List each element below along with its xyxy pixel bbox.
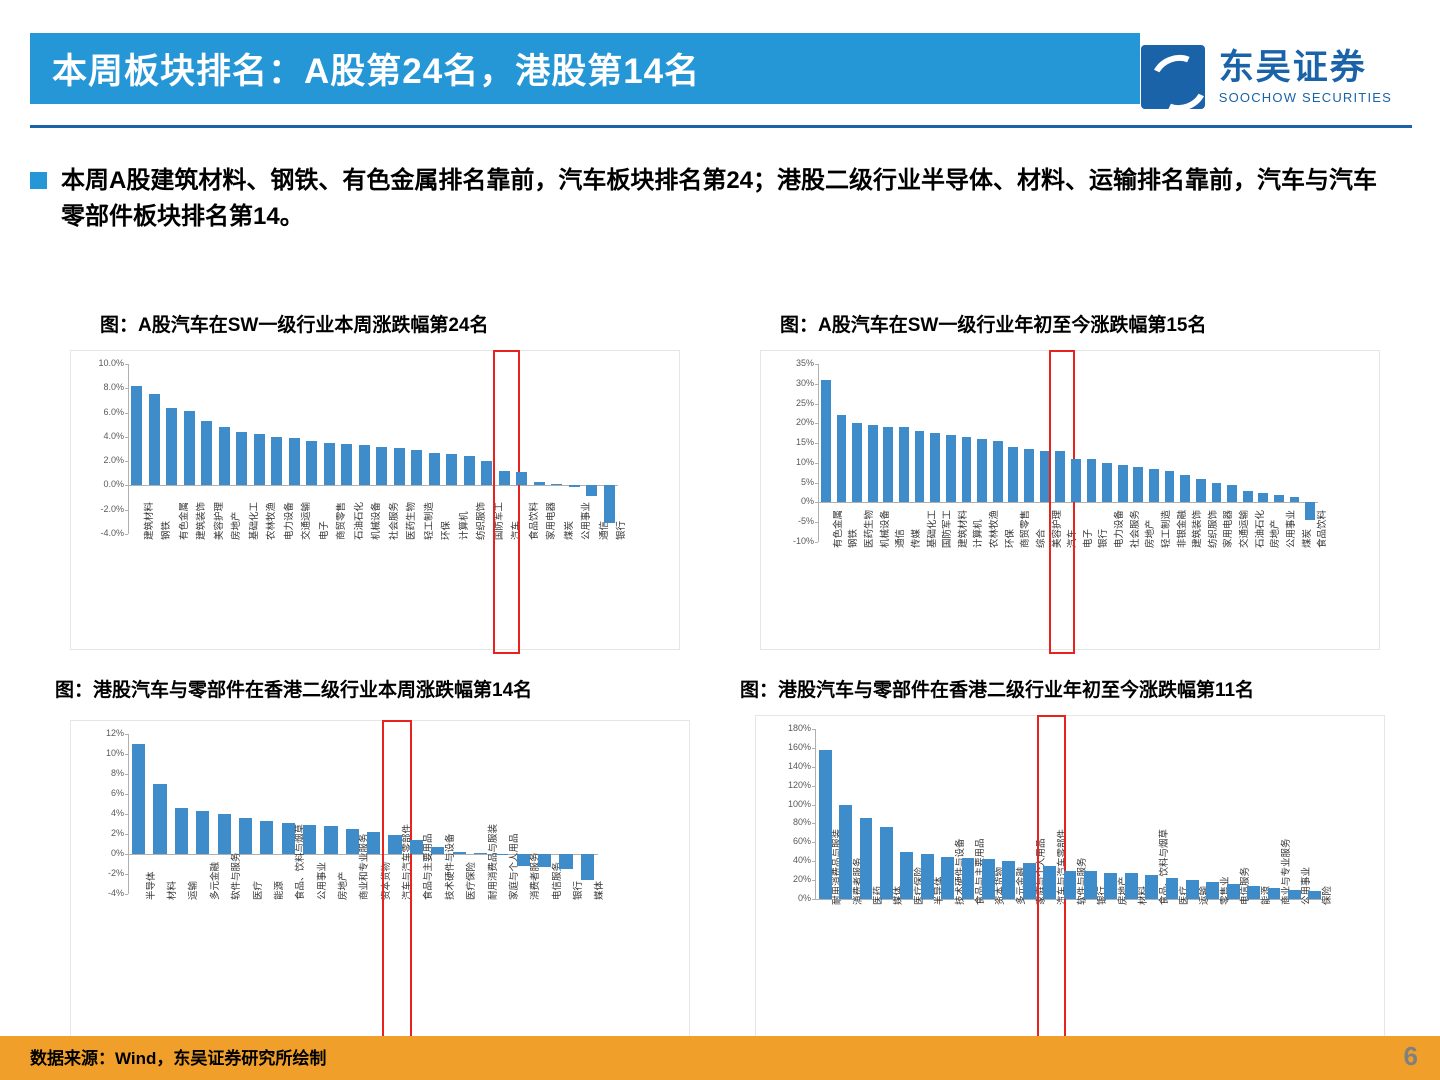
y-axis-tick-label: -10%	[772, 536, 814, 546]
bar	[837, 415, 847, 502]
bar	[303, 825, 316, 854]
y-axis-tick-label: 25%	[772, 398, 814, 408]
x-axis-category-label: 商贸零售	[1017, 510, 1031, 548]
bar	[306, 441, 317, 486]
x-axis-category-label: 电子	[1080, 529, 1094, 548]
x-axis-category-label: 机械设备	[368, 502, 382, 540]
bar	[289, 438, 300, 485]
bar	[341, 444, 352, 485]
bar	[1008, 447, 1018, 502]
x-axis-category-label: 运输	[185, 881, 199, 900]
x-axis-category-label: 机械设备	[877, 510, 891, 548]
bar	[1212, 483, 1222, 503]
x-axis-category-label: 建筑材料	[955, 510, 969, 548]
x-axis-category-label: 商贸零售	[333, 502, 347, 540]
x-axis-category-label: 房地产	[335, 871, 349, 900]
y-axis-tick-label: 0%	[769, 893, 811, 903]
x-axis-category-label: 材料	[164, 881, 178, 900]
bar	[1024, 449, 1034, 502]
y-axis-tick-label: 15%	[772, 437, 814, 447]
bar	[534, 482, 545, 486]
x-axis-category-label: 环保	[438, 521, 452, 540]
bar	[1102, 463, 1112, 503]
summary-bullet: 本周A股建筑材料、钢铁、有色金属排名靠前，汽车板块排名第24；港股二级行业半导体…	[30, 163, 1412, 235]
bar	[453, 852, 466, 854]
y-axis-tick-label: 12%	[82, 728, 124, 738]
y-axis-tick-label: 2%	[82, 828, 124, 838]
chart-hk-ytd: 180%160%140%120%100%80%60%40%20%0%耐用消费品与…	[755, 715, 1385, 1040]
y-axis-tick-label: 180%	[769, 723, 811, 733]
bar	[175, 808, 188, 854]
y-axis-tick-label: 100%	[769, 799, 811, 809]
x-axis-category-label: 食品与主要用品	[420, 833, 434, 900]
bar	[394, 448, 405, 486]
bar	[962, 437, 972, 502]
x-axis-category-label: 煤炭	[561, 521, 575, 540]
y-axis-tick-label: -4%	[82, 888, 124, 898]
x-axis-category-label: 计算机	[456, 511, 470, 540]
y-axis-line	[815, 729, 816, 899]
x-axis-category-label: 医药生物	[403, 502, 417, 540]
zero-baseline	[128, 485, 618, 486]
x-axis-category-label: 房地产	[228, 511, 242, 540]
bar	[236, 432, 247, 485]
x-axis-category-label: 家庭与个人用品	[506, 833, 520, 900]
y-axis-tick-label: 8%	[82, 768, 124, 778]
y-axis-tick-label: -5%	[772, 516, 814, 526]
highlight-box	[493, 350, 520, 654]
y-axis-tick-label: 0%	[772, 496, 814, 506]
y-axis-tick-label: 160%	[769, 742, 811, 752]
bar	[930, 433, 940, 502]
bar	[481, 461, 492, 485]
chart3-title: 图：港股汽车与零部件在香港二级行业本周涨跌幅第14名	[55, 675, 532, 702]
x-axis-category-label: 公用事业	[578, 502, 592, 540]
logo-text-en: SOOCHOW SECURITIES	[1219, 90, 1392, 105]
x-axis-category-label: 交通运输	[298, 502, 312, 540]
y-axis-tick-label: -2%	[82, 868, 124, 878]
page-title: 本周板块排名：A股第24名，港股第14名	[52, 43, 700, 94]
x-axis-category-label: 基础化工	[924, 510, 938, 548]
bar	[1149, 469, 1159, 503]
y-axis-tick-label: 40%	[769, 855, 811, 865]
x-axis-category-label: 半导体	[143, 871, 157, 900]
slide-title-bar: 本周板块排名：A股第24名，港股第14名	[30, 33, 1140, 104]
page-number: 6	[1404, 1041, 1418, 1072]
highlight-box	[1037, 715, 1066, 1044]
y-axis-tick	[815, 542, 818, 543]
bar	[1243, 491, 1253, 503]
y-axis-tick-label: -4.0%	[82, 528, 124, 538]
x-axis-category-label: 非银金融	[1174, 510, 1188, 548]
bar	[446, 454, 457, 486]
x-axis-category-label: 电力设备	[1111, 510, 1125, 548]
x-axis-category-label: 有色金属	[176, 502, 190, 540]
y-axis-tick-label: 4%	[82, 808, 124, 818]
bar	[1180, 475, 1190, 503]
y-axis-line	[128, 364, 129, 534]
x-axis-category-label: 钢铁	[845, 529, 859, 548]
highlight-box	[382, 720, 411, 1044]
chart-hk-weekly: 12%10%8%6%4%2%0%-2%-4%半导体材料运输多元金融软件与服务医疗…	[70, 720, 690, 1040]
x-axis-category-label: 建筑材料	[141, 502, 155, 540]
x-axis-category-label: 银行	[570, 881, 584, 900]
bar	[1274, 495, 1284, 503]
bar	[429, 453, 440, 486]
bar	[868, 425, 878, 502]
x-axis-category-label: 家用电器	[543, 502, 557, 540]
bar	[367, 832, 380, 854]
y-axis-tick-label: 2.0%	[82, 455, 124, 465]
x-axis-category-label: 公用事业	[1298, 867, 1312, 905]
header-divider	[30, 125, 1412, 128]
bar	[184, 411, 195, 485]
x-axis-category-label: 轻工制造	[421, 502, 435, 540]
x-axis-category-label: 交通运输	[1236, 510, 1250, 548]
bar	[1133, 467, 1143, 503]
y-axis-tick-label: 6.0%	[82, 407, 124, 417]
x-axis-category-label: 食品饮料	[1314, 510, 1328, 548]
x-axis-category-label: 建筑装饰	[193, 502, 207, 540]
x-axis-category-label: 软件与服务	[228, 852, 242, 900]
x-axis-category-label: 纺织服饰	[473, 502, 487, 540]
bar	[153, 784, 166, 854]
x-axis-category-label: 耐用消费品与服装	[485, 824, 499, 900]
y-axis-tick-label: 60%	[769, 836, 811, 846]
y-axis-tick-label: 8.0%	[82, 382, 124, 392]
bar	[254, 434, 265, 485]
x-axis-category-label: 房地产	[1267, 519, 1281, 548]
x-axis-category-label: 医疗	[250, 881, 264, 900]
bar	[977, 439, 987, 502]
chart-a-share-ytd: 35%30%25%20%15%10%5%0%-5%-10%有色金属钢铁医药生物机…	[760, 350, 1380, 650]
y-axis-tick	[125, 534, 128, 535]
bar	[581, 854, 594, 880]
y-axis-tick-label: 5%	[772, 477, 814, 487]
x-axis-category-label: 石油石化	[351, 502, 365, 540]
x-axis-category-label: 社会服务	[1127, 510, 1141, 548]
x-axis-category-label: 媒体	[591, 881, 605, 900]
bar	[239, 818, 252, 854]
x-axis-category-label: 石油石化	[1252, 510, 1266, 548]
y-axis-tick-label: 35%	[772, 358, 814, 368]
company-logo: 东吴证券 SOOCHOW SECURITIES	[1141, 45, 1392, 109]
y-axis-tick-label: 6%	[82, 788, 124, 798]
x-axis-category-label: 纺织服饰	[1205, 510, 1219, 548]
x-axis-category-label: 轻工制造	[1158, 510, 1172, 548]
bar	[324, 826, 337, 854]
y-axis-tick-label: 10.0%	[82, 358, 124, 368]
bar	[569, 485, 580, 486]
x-axis-category-label: 环保	[1002, 529, 1016, 548]
y-axis-tick-label: 20%	[772, 417, 814, 427]
y-axis-tick-label: 80%	[769, 817, 811, 827]
bar	[166, 408, 177, 486]
chart-frame	[70, 350, 680, 650]
bar	[1071, 459, 1081, 503]
bar	[131, 386, 142, 486]
bar	[1258, 493, 1268, 503]
bar	[464, 456, 475, 485]
x-axis-category-label: 保险	[1319, 886, 1333, 905]
x-axis-category-label: 煤炭	[1299, 529, 1313, 548]
x-axis-category-label: 国防军工	[939, 510, 953, 548]
chart1-title: 图：A股汽车在SW一级行业本周涨跌幅第24名	[100, 310, 488, 337]
y-axis-tick-label: 10%	[772, 457, 814, 467]
x-axis-category-label: 有色金属	[830, 510, 844, 548]
bar	[196, 811, 209, 854]
y-axis-tick-label: 0.0%	[82, 479, 124, 489]
y-axis-tick-label: 0%	[82, 848, 124, 858]
x-axis-category-label: 房地产	[1142, 519, 1156, 548]
x-axis-category-label: 钢铁	[158, 521, 172, 540]
bar	[201, 421, 212, 485]
chart4-title: 图：港股汽车与零部件在香港二级行业年初至今涨跌幅第11名	[740, 675, 1254, 702]
y-axis-tick-label: 20%	[769, 874, 811, 884]
bar	[604, 485, 615, 523]
y-axis-tick-label: -2.0%	[82, 504, 124, 514]
bar	[915, 431, 925, 502]
x-axis-category-label: 农林牧渔	[986, 510, 1000, 548]
bar	[516, 472, 527, 485]
x-axis-category-label: 银行	[1095, 529, 1109, 548]
x-axis-category-label: 银行	[613, 521, 627, 540]
data-source-label: 数据来源：Wind，东吴证券研究所绘制	[30, 1044, 326, 1069]
chart2-title: 图：A股汽车在SW一级行业年初至今涨跌幅第15名	[780, 310, 1206, 337]
bar	[946, 435, 956, 502]
bar	[883, 427, 893, 502]
y-axis-tick-label: 140%	[769, 761, 811, 771]
bar	[1196, 479, 1206, 503]
bar	[149, 394, 160, 485]
x-axis-category-label: 医药生物	[861, 510, 875, 548]
bar	[411, 450, 422, 485]
y-axis-tick-label: 10%	[82, 748, 124, 758]
bar	[1290, 497, 1300, 503]
x-axis-category-label: 医疗保险	[463, 862, 477, 900]
y-axis-line	[128, 734, 129, 894]
x-axis-category-label: 建筑装饰	[1189, 510, 1203, 548]
bar	[359, 445, 370, 485]
x-axis-category-label: 综合	[1033, 529, 1047, 548]
bar	[993, 441, 1003, 502]
x-axis-category-label: 农林牧渔	[263, 502, 277, 540]
x-axis-category-label: 公用事业	[1283, 510, 1297, 548]
x-axis-category-label: 电子	[316, 521, 330, 540]
x-axis-category-label: 多元金融	[207, 862, 221, 900]
bar	[586, 485, 597, 496]
bar	[218, 814, 231, 854]
bar	[376, 447, 387, 486]
bar	[551, 484, 562, 485]
y-axis-line	[818, 364, 819, 542]
x-axis-category-label: 基础化工	[246, 502, 260, 540]
bar	[324, 443, 335, 486]
bar	[219, 427, 230, 485]
x-axis-category-label: 公用事业	[314, 862, 328, 900]
bar	[1227, 485, 1237, 503]
logo-mark-icon	[1141, 45, 1205, 109]
bar	[260, 821, 273, 854]
bar	[1040, 451, 1050, 502]
x-axis-category-label: 美容护理	[211, 502, 225, 540]
logo-text-cn: 东吴证券	[1219, 50, 1392, 85]
bar	[852, 423, 862, 502]
x-axis-category-label: 社会服务	[386, 502, 400, 540]
x-axis-category-label: 通信	[596, 521, 610, 540]
summary-text: 本周A股建筑材料、钢铁、有色金属排名靠前，汽车板块排名第24；港股二级行业半导体…	[61, 163, 1391, 235]
x-axis-category-label: 能源	[271, 881, 285, 900]
chart-a-share-weekly: 10.0%8.0%6.0%4.0%2.0%0.0%-2.0%-4.0%建筑材料钢…	[70, 350, 680, 650]
x-axis-category-label: 通信	[892, 529, 906, 548]
x-axis-category-label: 食品饮料	[526, 502, 540, 540]
bar	[132, 744, 145, 854]
bar	[559, 854, 572, 869]
bullet-square-icon	[30, 172, 47, 189]
x-axis-category-label: 计算机	[970, 519, 984, 548]
bar	[1087, 459, 1097, 503]
y-axis-tick-label: 4.0%	[82, 431, 124, 441]
x-axis-category-label: 电力设备	[281, 502, 295, 540]
x-axis-category-label: 家用电器	[1220, 510, 1234, 548]
bar	[821, 380, 831, 503]
y-axis-tick-label: 120%	[769, 780, 811, 790]
bar	[1165, 471, 1175, 503]
y-axis-tick	[125, 894, 128, 895]
bar	[899, 427, 909, 502]
y-axis-tick-label: 30%	[772, 378, 814, 388]
bar	[1118, 465, 1128, 503]
bar	[271, 437, 282, 486]
x-axis-category-label: 技术硬件与设备	[442, 833, 456, 900]
x-axis-category-label: 传媒	[908, 529, 922, 548]
